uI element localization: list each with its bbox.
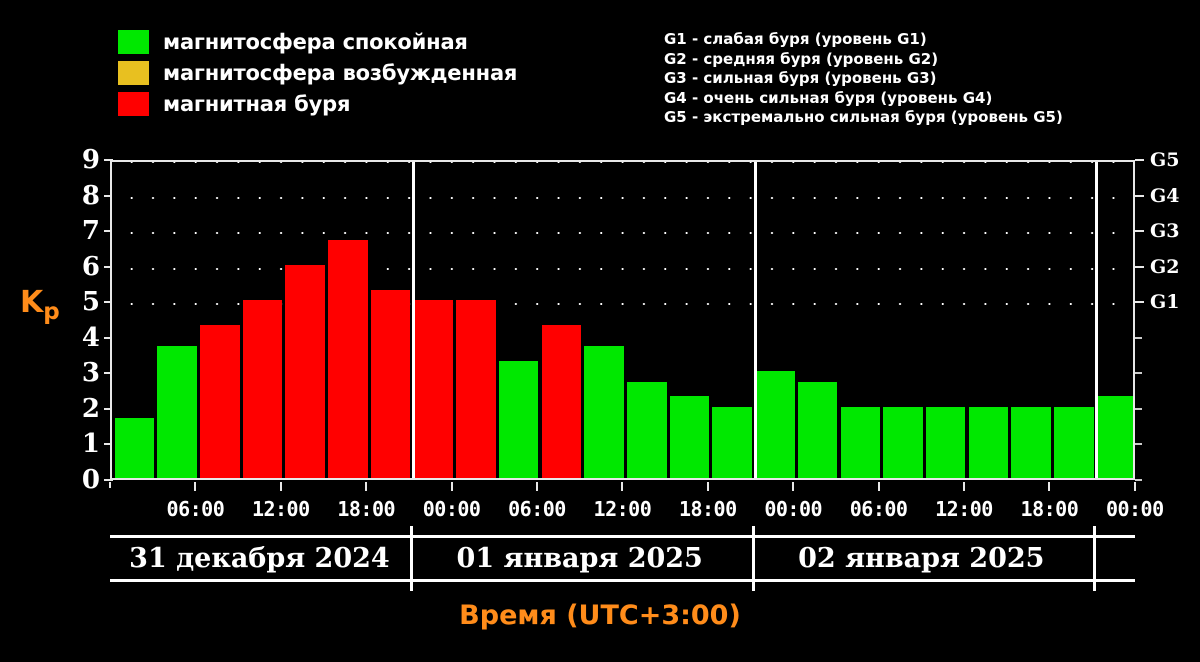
bar-0 xyxy=(115,418,155,478)
bar-2 xyxy=(200,325,240,478)
day-divider-3 xyxy=(1095,162,1098,478)
bar-6 xyxy=(371,290,411,478)
bar-11 xyxy=(584,346,624,478)
geomagnetic-kp-chart: магнитосфера спокойнаямагнитосфера возбу… xyxy=(0,0,1200,662)
g-tick-mark-G3 xyxy=(1135,230,1144,232)
y-tick-label-9: 9 xyxy=(36,147,100,173)
bar-20 xyxy=(969,407,1009,478)
legend-swatch-icon xyxy=(118,30,149,54)
x-minor-tick-24 xyxy=(1134,482,1136,488)
y-tick-label-4: 4 xyxy=(36,325,100,351)
y-tick-label-0: 0 xyxy=(36,467,100,493)
x-minor-tick-16 xyxy=(792,482,794,488)
x-tick-label-8: 06:00 xyxy=(834,497,924,521)
x-minor-tick-22 xyxy=(1048,482,1050,488)
g-scale-line-4: G4 - очень сильная буря (уровень G4) xyxy=(664,89,1063,109)
plot-inner xyxy=(112,162,1133,478)
x-minor-tick-4 xyxy=(280,482,282,488)
y-tick-label-7: 7 xyxy=(36,218,100,244)
date-separator-1 xyxy=(410,526,413,591)
bar-23 xyxy=(1097,396,1133,478)
g-tick-mark-G1 xyxy=(1135,301,1144,303)
g-tick-label-G4: G4 xyxy=(1150,187,1179,206)
bar-16 xyxy=(798,382,838,478)
g-scale-line-3: G3 - сильная буря (уровень G3) xyxy=(664,69,1063,89)
x-minor-tick-18 xyxy=(878,482,880,488)
x-minor-tick-12 xyxy=(621,482,623,488)
x-minor-tick-6 xyxy=(365,482,367,488)
legend-item-0: магнитосфера спокойная xyxy=(118,26,517,57)
x-tick-label-1: 12:00 xyxy=(236,497,326,521)
x-tick-label-3: 00:00 xyxy=(407,497,497,521)
g-scale-key: G1 - слабая буря (уровень G1)G2 - средня… xyxy=(664,30,1063,128)
legend-swatch-icon xyxy=(118,61,149,85)
bar-10 xyxy=(542,325,582,478)
date-band: 31 декабря 202401 января 202502 января 2… xyxy=(110,535,1135,582)
x-minor-tick-0 xyxy=(109,482,111,488)
legend-item-label: магнитная буря xyxy=(163,92,350,116)
g-scale-line-5: G5 - экстремально сильная буря (уровень … xyxy=(664,108,1063,128)
x-tick-label-0: 06:00 xyxy=(150,497,240,521)
g-tick-mark-G4 xyxy=(1135,195,1144,197)
x-minor-tick-14 xyxy=(707,482,709,488)
bar-19 xyxy=(926,407,966,478)
bar-7 xyxy=(414,300,454,478)
y-tick-label-5: 5 xyxy=(36,289,100,315)
x-minor-tick-2 xyxy=(194,482,196,488)
legend-item-1: магнитосфера возбужденная xyxy=(118,57,517,88)
g-tick-label-G5: G5 xyxy=(1150,151,1179,170)
bar-14 xyxy=(712,407,752,478)
date-separator-2 xyxy=(752,526,755,591)
day-divider-1 xyxy=(412,162,415,478)
y-tick-label-2: 2 xyxy=(36,396,100,422)
bar-4 xyxy=(285,265,325,478)
x-tick-label-10: 18:00 xyxy=(1004,497,1094,521)
legend: магнитосфера спокойнаямагнитосфера возбу… xyxy=(118,26,517,119)
x-tick-label-5: 12:00 xyxy=(577,497,667,521)
bar-1 xyxy=(157,346,197,478)
date-label-1: 31 декабря 2024 xyxy=(110,538,409,579)
x-minor-tick-20 xyxy=(963,482,965,488)
x-tick-label-9: 12:00 xyxy=(919,497,1009,521)
y-tick-label-8: 8 xyxy=(36,183,100,209)
g-scale-line-1: G1 - слабая буря (уровень G1) xyxy=(664,30,1063,50)
bars-container xyxy=(112,162,1133,478)
g-minor-tick-3 xyxy=(1135,372,1142,374)
x-tick-label-6: 18:00 xyxy=(663,497,753,521)
date-label-3: 02 января 2025 xyxy=(751,538,1093,579)
y-tick-label-6: 6 xyxy=(36,254,100,280)
x-tick-label-7: 00:00 xyxy=(748,497,838,521)
x-minor-tick-8 xyxy=(451,482,453,488)
bar-15 xyxy=(755,371,795,478)
g-minor-tick-1 xyxy=(1135,443,1142,445)
g-tick-label-G3: G3 xyxy=(1150,222,1179,241)
legend-item-2: магнитная буря xyxy=(118,88,517,119)
bar-17 xyxy=(841,407,881,478)
legend-swatch-icon xyxy=(118,92,149,116)
x-minor-tick-10 xyxy=(536,482,538,488)
g-tick-label-G1: G1 xyxy=(1150,293,1179,312)
x-tick-label-2: 18:00 xyxy=(321,497,411,521)
bar-9 xyxy=(499,361,539,478)
legend-item-label: магнитосфера возбужденная xyxy=(163,61,517,85)
bar-5 xyxy=(328,240,368,478)
g-scale-line-2: G2 - средняя буря (уровень G2) xyxy=(664,50,1063,70)
x-tick-label-11: 00:00 xyxy=(1090,497,1180,521)
x-axis-title: Время (UTC+3:00) xyxy=(0,600,1200,631)
bar-13 xyxy=(670,396,710,478)
y-tick-label-1: 1 xyxy=(36,431,100,457)
g-tick-label-G2: G2 xyxy=(1150,258,1179,277)
date-separator-3 xyxy=(1093,526,1096,591)
plot-area xyxy=(110,160,1135,480)
g-tick-mark-G2 xyxy=(1135,266,1144,268)
bar-18 xyxy=(883,407,923,478)
bar-22 xyxy=(1054,407,1094,478)
bar-3 xyxy=(243,300,283,478)
day-divider-2 xyxy=(754,162,757,478)
x-tick-label-4: 06:00 xyxy=(492,497,582,521)
g-tick-mark-G5 xyxy=(1135,159,1144,161)
g-minor-tick-0 xyxy=(1135,479,1142,481)
date-label-2: 01 января 2025 xyxy=(409,538,751,579)
g-minor-tick-4 xyxy=(1135,337,1142,339)
g-minor-tick-2 xyxy=(1135,408,1142,410)
bar-21 xyxy=(1011,407,1051,478)
bar-12 xyxy=(627,382,667,478)
bar-8 xyxy=(456,300,496,478)
y-tick-label-3: 3 xyxy=(36,360,100,386)
legend-item-label: магнитосфера спокойная xyxy=(163,30,468,54)
